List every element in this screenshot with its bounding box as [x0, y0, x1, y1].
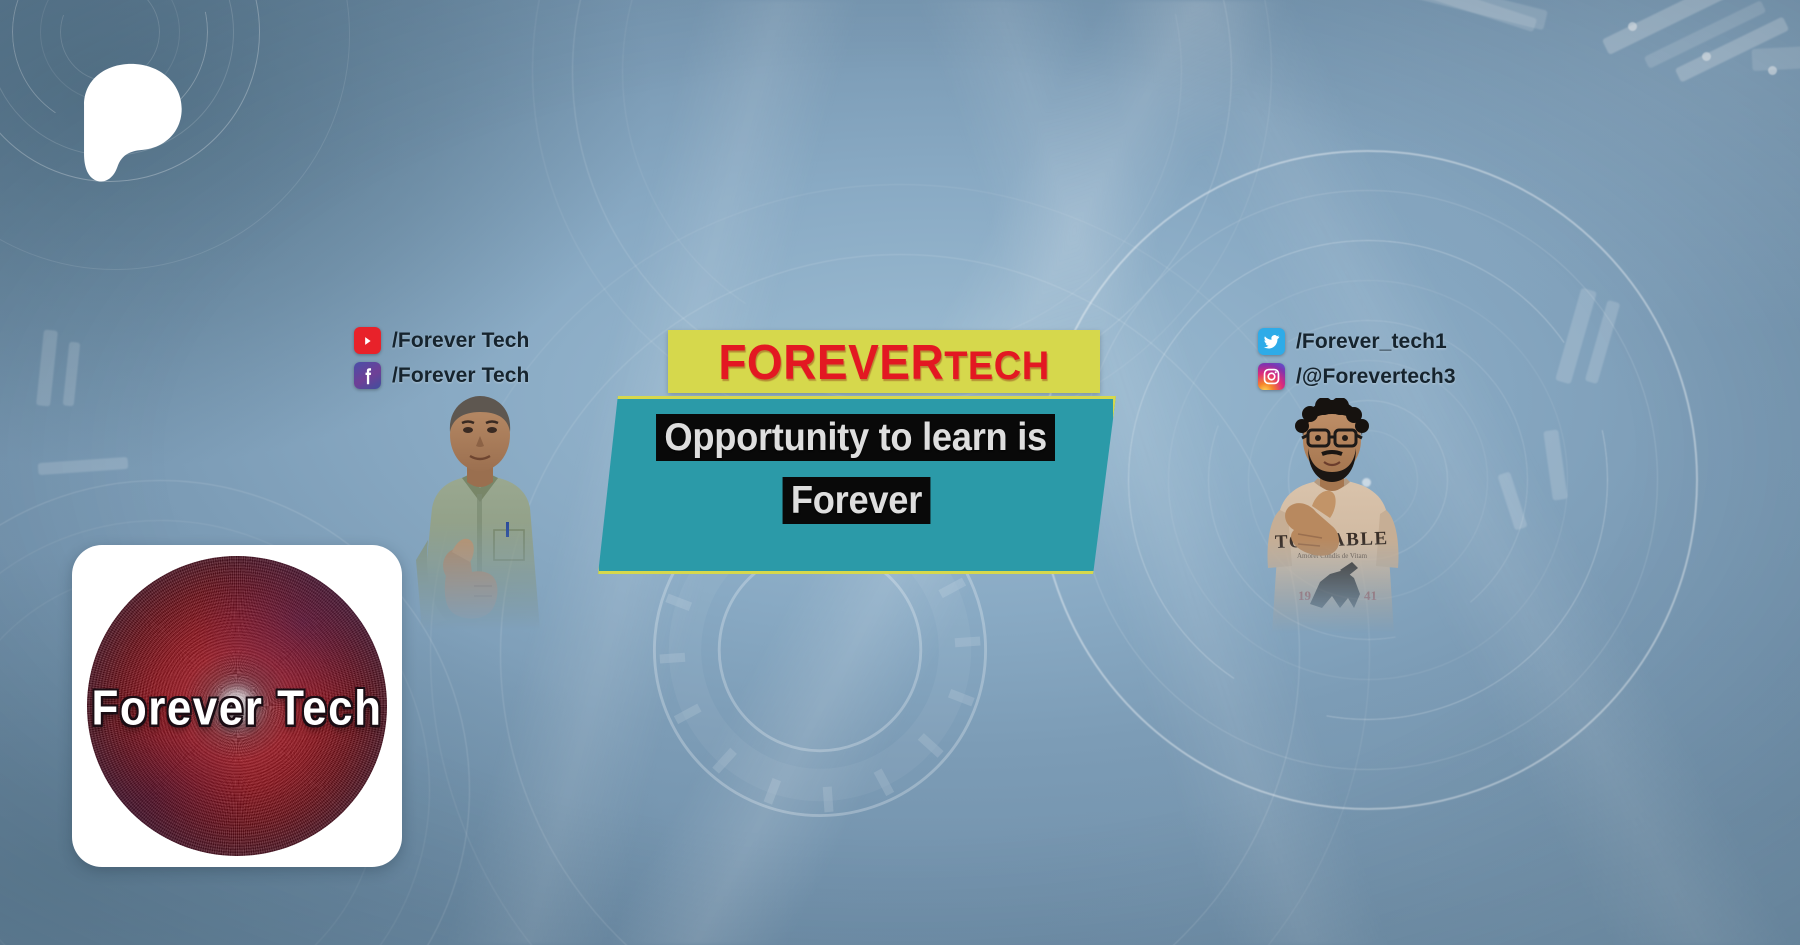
svg-text:Amoret Condis de Vitam: Amoret Condis de Vitam [1297, 552, 1368, 560]
center-banner: FOREVERTECH Opportunity to learn is Fore… [596, 330, 1116, 580]
facebook-icon[interactable] [354, 362, 381, 389]
svg-text:19: 19 [1298, 588, 1312, 603]
channel-logo-tile[interactable]: Forever Tech [72, 545, 402, 867]
logo-wordmark: Forever Tech [91, 681, 382, 737]
social-row-instagram[interactable]: /@Forevertech3 [1258, 363, 1456, 390]
quote-plate: Opportunity to learn is Forever [596, 396, 1116, 574]
banner-title-small: TECH [944, 343, 1049, 388]
banner-title: FOREVERTECH [718, 337, 1049, 386]
social-row-twitter[interactable]: /Forever_tech1 [1258, 328, 1456, 355]
banner-title-main: FOREVER [718, 334, 944, 389]
instagram-handle: /@Forevertech3 [1296, 365, 1456, 389]
twitter-handle: /Forever_tech1 [1296, 330, 1447, 354]
quote-line-1: Opportunity to learn is [656, 414, 1055, 461]
social-row-facebook[interactable]: /Forever Tech [354, 362, 529, 389]
twitter-icon[interactable] [1258, 328, 1285, 355]
svg-text:41: 41 [1364, 588, 1377, 603]
banner-stage: /Forever Tech /Forever Tech /Forever_tec… [0, 0, 1800, 945]
facebook-handle: /Forever Tech [392, 364, 529, 388]
social-links-right: /Forever_tech1 /@Forevertech3 [1258, 328, 1456, 390]
instagram-icon[interactable] [1258, 363, 1285, 390]
patreon-logo-icon [68, 60, 186, 185]
quote-line-2: Forever [782, 477, 930, 524]
title-plate: FOREVERTECH [668, 330, 1100, 393]
presenter-left [388, 390, 573, 630]
youtube-icon[interactable] [354, 327, 381, 354]
presenter-right: TOTFABLE Amoret Condis de Vitam 19 41 [1236, 398, 1431, 633]
social-links-left: /Forever Tech /Forever Tech [354, 327, 529, 389]
social-row-youtube[interactable]: /Forever Tech [354, 327, 529, 354]
youtube-handle: /Forever Tech [392, 329, 529, 353]
